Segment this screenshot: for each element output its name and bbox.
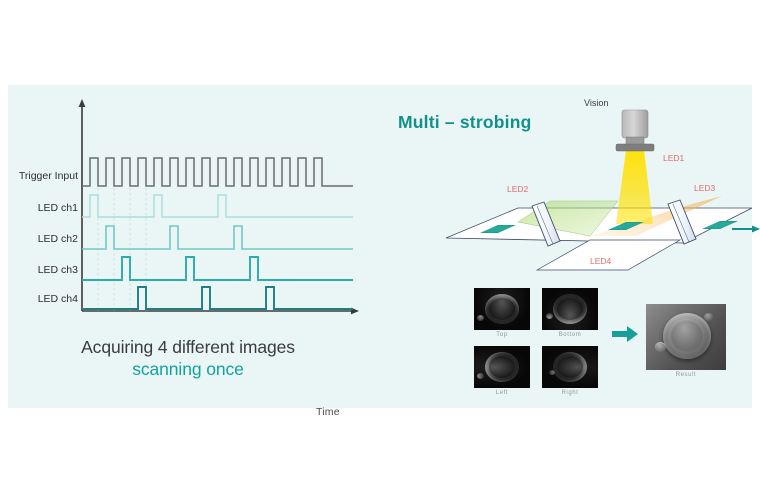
thumbnail-caption: Bottom (542, 332, 598, 338)
thumbnail-bottom[interactable]: Bottom (542, 288, 598, 338)
thumbnail-caption: Left (474, 390, 530, 396)
arrow-right-icon (612, 326, 638, 347)
led3-label: LED3 (694, 183, 715, 193)
thumbnail-result[interactable]: Result (646, 304, 726, 378)
thumbnail-right[interactable]: Right (542, 346, 598, 396)
waveform-ch2 (82, 226, 353, 249)
timing-svg (8, 90, 368, 345)
waveform-ch3 (82, 257, 353, 280)
thumbnail-left[interactable]: Left (474, 346, 530, 396)
x-axis-label: Time (316, 406, 340, 418)
conveyor-direction-arrow (732, 226, 760, 233)
result-caption: Result (646, 372, 726, 378)
caption-line-1: Acquiring 4 different images (8, 336, 368, 358)
waveform-ch1 (82, 195, 353, 217)
led2-label: LED2 (507, 184, 528, 194)
thumbnail-caption: Right (542, 390, 598, 396)
thumbnail-top[interactable]: Top (474, 288, 530, 338)
strobing-scene: Vision LED1 LED2 LED3 LED4 (440, 100, 760, 280)
signal-label-ch2: LED ch2 (38, 233, 78, 245)
signal-label-ch4: LED ch4 (38, 293, 78, 305)
vision-label: Vision (584, 98, 608, 108)
waveform-trigger (82, 158, 353, 186)
led4-label: LED4 (590, 256, 611, 266)
thumbnail-caption: Top (474, 332, 530, 338)
timing-diagram: Trigger Input LED ch1 LED ch2 LED ch3 LE… (8, 90, 368, 345)
vision-camera (616, 110, 654, 151)
signal-label-ch1: LED ch1 (38, 202, 78, 214)
caption-line-2: scanning once (8, 358, 368, 380)
signal-label-trigger: Trigger Input (19, 170, 78, 182)
slide-root: Trigger Input LED ch1 LED ch2 LED ch3 LE… (0, 0, 760, 498)
waveform-ch4 (82, 287, 353, 309)
result-thumbnails: Top Bottom Left (474, 288, 744, 400)
signal-label-ch3: LED ch3 (38, 264, 78, 276)
camera-light-beam (616, 150, 653, 224)
led1-label: LED1 (663, 153, 684, 163)
timing-caption: Acquiring 4 different images scanning on… (8, 336, 368, 380)
